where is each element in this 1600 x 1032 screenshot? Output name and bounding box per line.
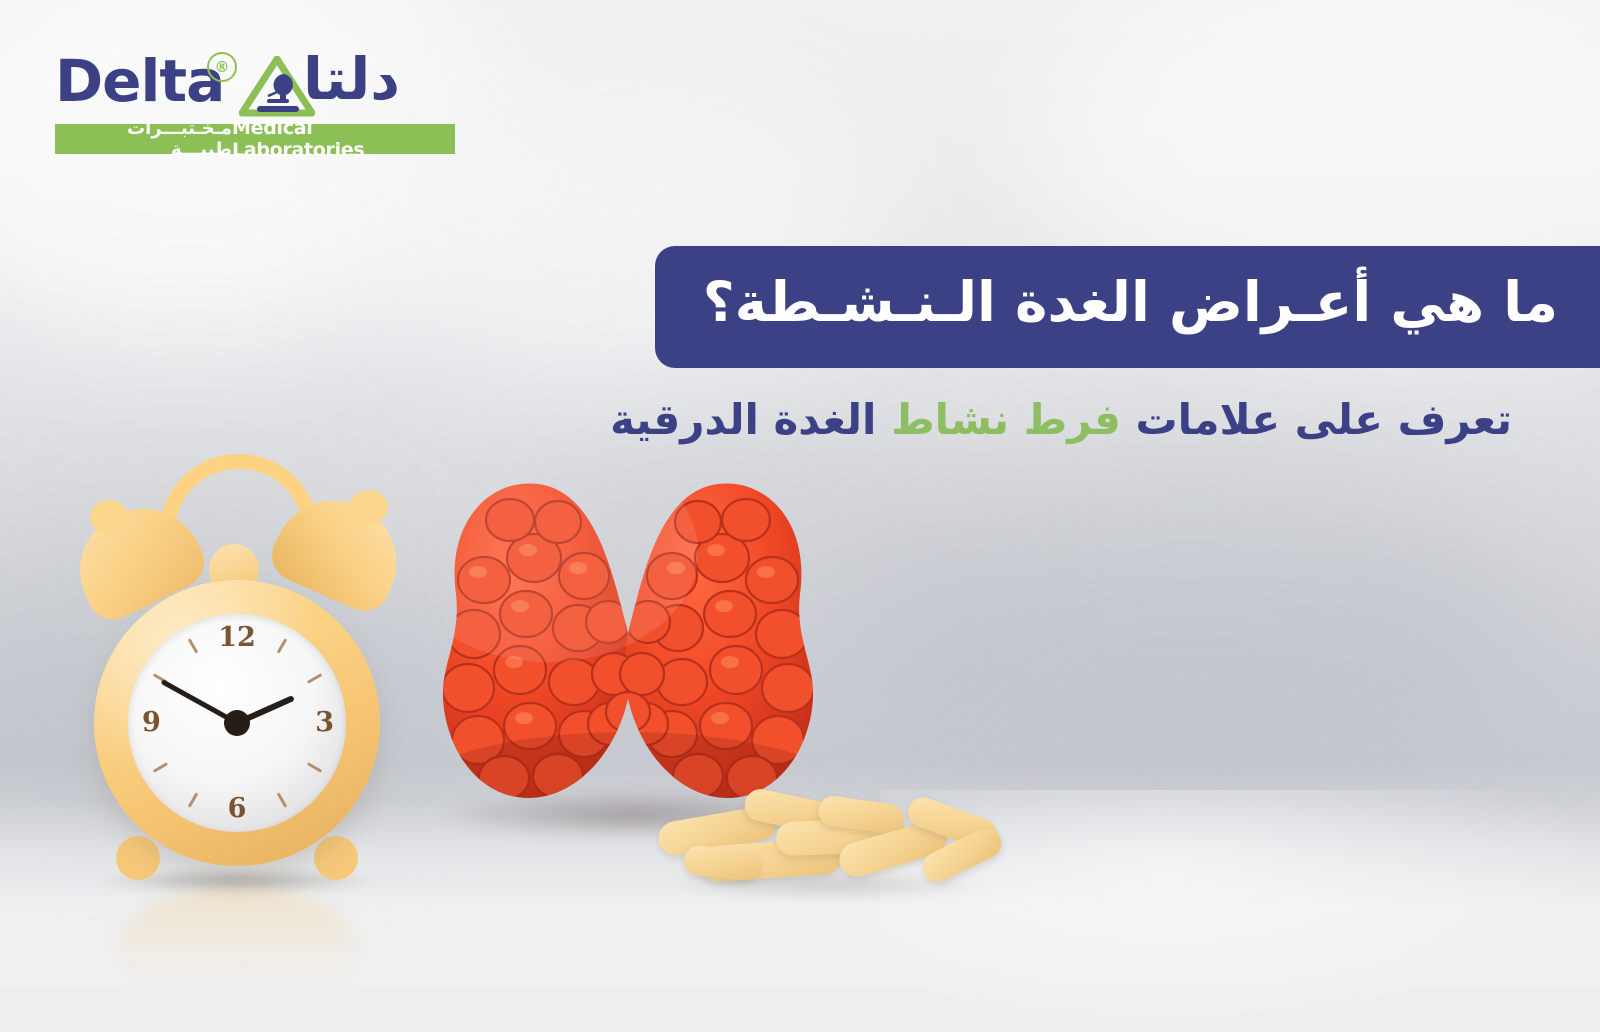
clock-tick (187, 638, 198, 653)
registered-trademark-icon: ® (207, 52, 237, 82)
clock-tick (152, 762, 167, 773)
clock-tick (276, 638, 287, 653)
subtitle-trail: الغدة الدرقية (610, 395, 891, 444)
clock-center-pin (224, 710, 250, 736)
headline-title: ما هي أعـراض الغدة الـنـشـطة؟ (703, 274, 1558, 332)
headline-banner: ما هي أعـراض الغدة الـنـشـطة؟ (655, 246, 1600, 368)
brand-tagline-bar: Medical Laboratories مـخـتبـــرات طبيـــ… (55, 124, 455, 154)
capsule-pills-icon (648, 786, 1020, 906)
brand-name-ar: دلتا (303, 44, 453, 114)
brand-name-en: Delta (55, 46, 224, 116)
subtitle-highlight: فرط نشاط (891, 395, 1121, 444)
clock-numeral-12: 12 (218, 622, 256, 653)
clock-tick (276, 792, 287, 807)
clock-numeral-6: 6 (228, 793, 247, 824)
brand-logo-wordmark-row: Delta ® دلتا (55, 48, 455, 122)
poster-canvas: Delta ® دلتا Medical Laboratories مـخـتب… (0, 0, 1600, 1032)
thyroid-gland-model-icon (398, 462, 858, 834)
brand-logo[interactable]: Delta ® دلتا Medical Laboratories مـخـتب… (55, 48, 455, 160)
alarm-clock-foot-right (314, 836, 358, 880)
clock-numeral-9: 9 (142, 707, 161, 738)
clock-tick (306, 762, 321, 773)
alarm-clock-foot-left (116, 836, 160, 880)
clock-numeral-3: 3 (315, 707, 334, 738)
thyroid-follicle-texture (398, 462, 858, 834)
alarm-clock-bell-cap-left (90, 500, 128, 534)
alarm-clock-bell-cap-right (350, 490, 388, 524)
brand-tagline-ar: مـخـتبـــرات طبيـــة (63, 118, 232, 160)
alarm-clock-icon: 12 3 6 9 (72, 448, 402, 898)
brand-tagline-en: Medical Laboratories (232, 117, 447, 161)
clock-tick (187, 792, 198, 807)
subtitle-line: تعرف على علامات فرط نشاط الغدة الدرقية (610, 392, 1512, 449)
alarm-clock-face: 12 3 6 9 (128, 614, 346, 832)
subtitle-lead: تعرف على علامات (1121, 395, 1512, 444)
alarm-clock-case: 12 3 6 9 (94, 580, 380, 866)
clock-tick (306, 673, 321, 684)
alarm-clock-reflection (116, 888, 360, 1008)
